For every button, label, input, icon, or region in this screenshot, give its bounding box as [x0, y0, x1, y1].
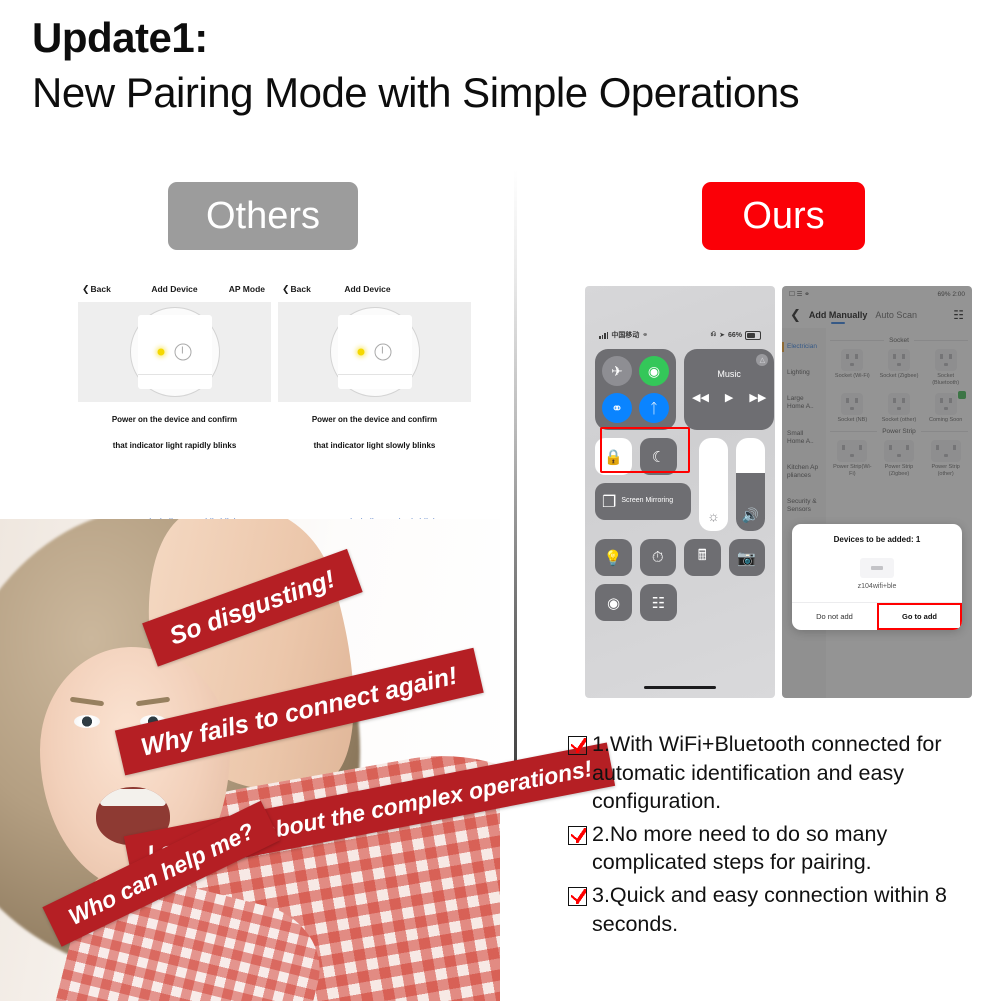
dialog-actions: Do not add Go to add — [792, 602, 962, 630]
product-socket-bluetooth[interactable]: Socket (Bluetooth) — [923, 349, 968, 387]
location-arrow-icon: ➤ — [719, 331, 725, 339]
indicator-led-icon — [157, 349, 164, 356]
screen-mirroring-button[interactable]: ❐ Screen Mirroring — [595, 483, 691, 520]
dialog-title: Devices to be added: 1 — [792, 524, 962, 544]
socket-icon — [841, 393, 863, 415]
signal-bars-icon — [599, 332, 608, 339]
navbar-title: Add Device — [264, 284, 471, 294]
product-label: Power Strip (other) — [923, 464, 968, 478]
benefits-list: 1.With WiFi+Bluetooth connected for auto… — [568, 730, 993, 942]
power-strip-product-grid: Power Strip(Wi-Fi) Power Strip (Zigbee) … — [830, 440, 968, 478]
product-label: Power Strip(Wi-Fi) — [830, 464, 875, 478]
product-power-strip-wifi[interactable]: Power Strip(Wi-Fi) — [830, 440, 875, 478]
power-button-icon — [374, 344, 391, 361]
benefit-text: 2.No more need to do so many complicated… — [592, 820, 993, 877]
section-title-power-strip: Power Strip — [830, 428, 968, 435]
teeth — [100, 789, 166, 806]
sidebar-item-small-home-appliances[interactable]: Small Home A.. — [782, 421, 826, 455]
section-title-socket: Socket — [830, 337, 968, 344]
brightness-slider[interactable]: ☼ — [699, 438, 728, 531]
timer-icon[interactable]: ⏱ — [640, 539, 677, 576]
music-label: Music — [692, 369, 766, 379]
list-item: 2.No more need to do so many complicated… — [568, 820, 993, 877]
sidebar-item-security-sensors[interactable]: Security & Sensors — [782, 489, 826, 523]
ios-control-center-screenshot: 中国移动 ⚭ ⎌ ➤ 66% ✈ ◉ ⚭ ᛏ △ Music ◀◀ ▶ — [585, 286, 775, 698]
cc-utility-row-2: ◉ ☷ — [595, 584, 765, 621]
checkbox-checked-icon — [568, 887, 587, 906]
status-right-info: 69% 2:00 — [938, 291, 965, 298]
benefit-text: 1.With WiFi+Bluetooth connected for auto… — [592, 730, 993, 816]
scan-frame-icon[interactable]: ☷ — [953, 308, 964, 322]
device-illustration — [78, 302, 271, 402]
socket-icon — [935, 393, 957, 415]
wifi-toggle-icon[interactable]: ⚭ — [602, 393, 632, 423]
list-item: 1.With WiFi+Bluetooth connected for auto… — [568, 730, 993, 816]
calculator-icon[interactable]: 🖩 — [684, 539, 721, 576]
power-strip-icon — [837, 440, 867, 462]
app-content: Electrician Lighting Large Home A.. Smal… — [782, 328, 972, 698]
cellular-data-icon[interactable]: ◉ — [639, 356, 669, 386]
connectivity-module: ✈ ◉ ⚭ ᛏ — [595, 349, 676, 430]
headline-subtitle: New Pairing Mode with Simple Operations — [32, 68, 992, 118]
device-edge-line — [338, 374, 412, 375]
discovered-device: z104wifi+ble — [792, 544, 962, 602]
benefit-text: 3.Quick and easy connection within 8 sec… — [592, 881, 993, 938]
category-sidebar: Electrician Lighting Large Home A.. Smal… — [782, 328, 826, 698]
page-title: Update1: New Pairing Mode with Simple Op… — [32, 16, 992, 118]
status-left-icons: ☐ ☰ ⚭ — [789, 290, 810, 298]
eye-left — [74, 715, 100, 728]
battery-percent-label: 69% — [938, 291, 951, 298]
devices-to-add-dialog: Devices to be added: 1 z104wifi+ble Do n… — [792, 524, 962, 630]
product-socket-other[interactable]: Socket (other) — [877, 393, 922, 424]
carrier-label: 中国移动 — [611, 330, 639, 340]
cc-second-row: 🔒 ☾ ❐ Screen Mirroring ☼ 🔊 — [595, 438, 765, 531]
orientation-lock-icon: ⎌ — [711, 331, 717, 339]
product-power-strip-other[interactable]: Power Strip (other) — [923, 440, 968, 478]
indicator-led-icon — [357, 349, 364, 356]
new-badge-icon — [958, 391, 966, 399]
do-not-add-button[interactable]: Do not add — [792, 603, 877, 630]
app-top-nav: ❮ Add Manually Auto Scan ☷ — [782, 302, 972, 328]
bluetooth-toggle-icon[interactable]: ᛏ — [639, 393, 669, 423]
screen-record-icon[interactable]: ◉ — [595, 584, 632, 621]
instruction-line-2: that indicator light rapidly blinks — [78, 438, 271, 454]
product-label: Coming Soon — [929, 417, 962, 424]
product-label: Socket (Zigbee) — [880, 373, 919, 380]
android-status-bar: ☐ ☰ ⚭ 69% 2:00 — [782, 286, 972, 302]
product-coming-soon[interactable]: Coming Soon — [923, 393, 968, 424]
device-edge-line — [138, 374, 212, 375]
socket-icon — [888, 393, 910, 415]
rotation-lock-icon[interactable]: 🔒 — [595, 438, 632, 475]
airplay-icon[interactable]: △ — [756, 354, 768, 366]
app-navbar: ❮Back Add Device AP Mode — [78, 282, 271, 302]
camera-icon[interactable]: 📷 — [729, 539, 766, 576]
next-track-icon[interactable]: ▶▶ — [749, 391, 766, 404]
ours-badge: Ours — [702, 182, 865, 250]
control-center-grid: ✈ ◉ ⚭ ᛏ △ Music ◀◀ ▶ ▶▶ 🔒 ☾ — [595, 349, 765, 629]
ios-status-bar: 中国移动 ⚭ ⎌ ➤ 66% — [585, 329, 775, 341]
sidebar-item-lighting[interactable]: Lighting — [782, 360, 826, 386]
cc-utility-row-1: 💡 ⏱ 🖩 📷 — [595, 539, 765, 576]
instruction-line-2: that indicator light slowly blinks — [278, 438, 471, 454]
product-label: Power Strip (Zigbee) — [877, 464, 922, 478]
product-socket-zigbee[interactable]: Socket (Zigbee) — [877, 349, 922, 387]
product-socket-nb[interactable]: Socket (NB) — [830, 393, 875, 424]
cc-top-row: ✈ ◉ ⚭ ᛏ △ Music ◀◀ ▶ ▶▶ — [595, 349, 765, 430]
music-widget[interactable]: △ Music ◀◀ ▶ ▶▶ — [684, 349, 774, 430]
product-label: Socket (other) — [882, 417, 917, 424]
product-list: Socket Socket (Wi-Fi) Socket (Zigbee) So… — [826, 328, 972, 698]
back-icon[interactable]: ❮ — [790, 307, 801, 323]
flashlight-icon[interactable]: 💡 — [595, 539, 632, 576]
vertical-divider — [514, 170, 517, 790]
power-strip-icon — [884, 440, 914, 462]
product-power-strip-zigbee[interactable]: Power Strip (Zigbee) — [877, 440, 922, 478]
battery-icon — [745, 331, 761, 340]
checkbox-checked-icon — [568, 826, 587, 845]
sidebar-item-large-home-appliances[interactable]: Large Home A.. — [782, 386, 826, 420]
add-device-app-screenshot: ☐ ☰ ⚭ 69% 2:00 ❮ Add Manually Auto Scan … — [782, 286, 972, 698]
product-socket-wifi[interactable]: Socket (Wi-Fi) — [830, 349, 875, 387]
volume-slider[interactable]: 🔊 — [736, 438, 765, 531]
checkbox-checked-icon — [568, 736, 587, 755]
socket-icon — [935, 349, 957, 371]
brightness-icon: ☼ — [707, 508, 720, 524]
headline-update-label: Update1: — [32, 16, 992, 60]
volume-icon: 🔊 — [742, 507, 759, 524]
qr-scan-icon[interactable]: ☷ — [640, 584, 677, 621]
tab-add-manually[interactable]: Add Manually — [809, 310, 868, 320]
socket-icon — [841, 349, 863, 371]
device-name-label: z104wifi+ble — [858, 583, 897, 590]
wifi-icon: ⚭ — [642, 331, 648, 339]
power-strip-icon — [931, 440, 961, 462]
tab-auto-scan[interactable]: Auto Scan — [875, 310, 917, 320]
product-label: Socket (Wi-Fi) — [835, 373, 870, 380]
power-button-icon — [174, 344, 191, 361]
product-label: Socket (Bluetooth) — [923, 373, 968, 387]
app-navbar: ❮Back Add Device — [278, 282, 471, 302]
socket-icon — [888, 349, 910, 371]
others-badge: Others — [168, 182, 358, 250]
moon-icon[interactable]: ☾ — [640, 438, 677, 475]
play-icon[interactable]: ▶ — [725, 391, 733, 404]
product-label: Socket (NB) — [838, 417, 868, 424]
instruction-line-1: Power on the device and confirm — [278, 412, 471, 428]
battery-percent-label: 66% — [728, 332, 742, 339]
device-thumbnail-icon — [860, 558, 894, 578]
prev-track-icon[interactable]: ◀◀ — [692, 391, 709, 404]
airplane-mode-icon[interactable]: ✈ — [602, 356, 632, 386]
home-indicator[interactable] — [644, 686, 716, 690]
device-illustration — [278, 302, 471, 402]
go-to-add-button[interactable]: Go to add — [877, 603, 962, 630]
sidebar-item-electrician[interactable]: Electrician — [782, 334, 826, 360]
clock-label: 2:00 — [952, 291, 965, 298]
mirroring-icon: ❐ — [602, 492, 616, 512]
list-item: 3.Quick and easy connection within 8 sec… — [568, 881, 993, 938]
sidebar-item-kitchen-appliances[interactable]: Kitchen Ap pliances — [782, 455, 826, 489]
instruction-line-1: Power on the device and confirm — [78, 412, 271, 428]
ap-mode-button[interactable]: AP Mode — [229, 284, 265, 294]
socket-product-grid: Socket (Wi-Fi) Socket (Zigbee) Socket (B… — [830, 349, 968, 424]
screen-mirroring-label: Screen Mirroring — [621, 497, 673, 505]
